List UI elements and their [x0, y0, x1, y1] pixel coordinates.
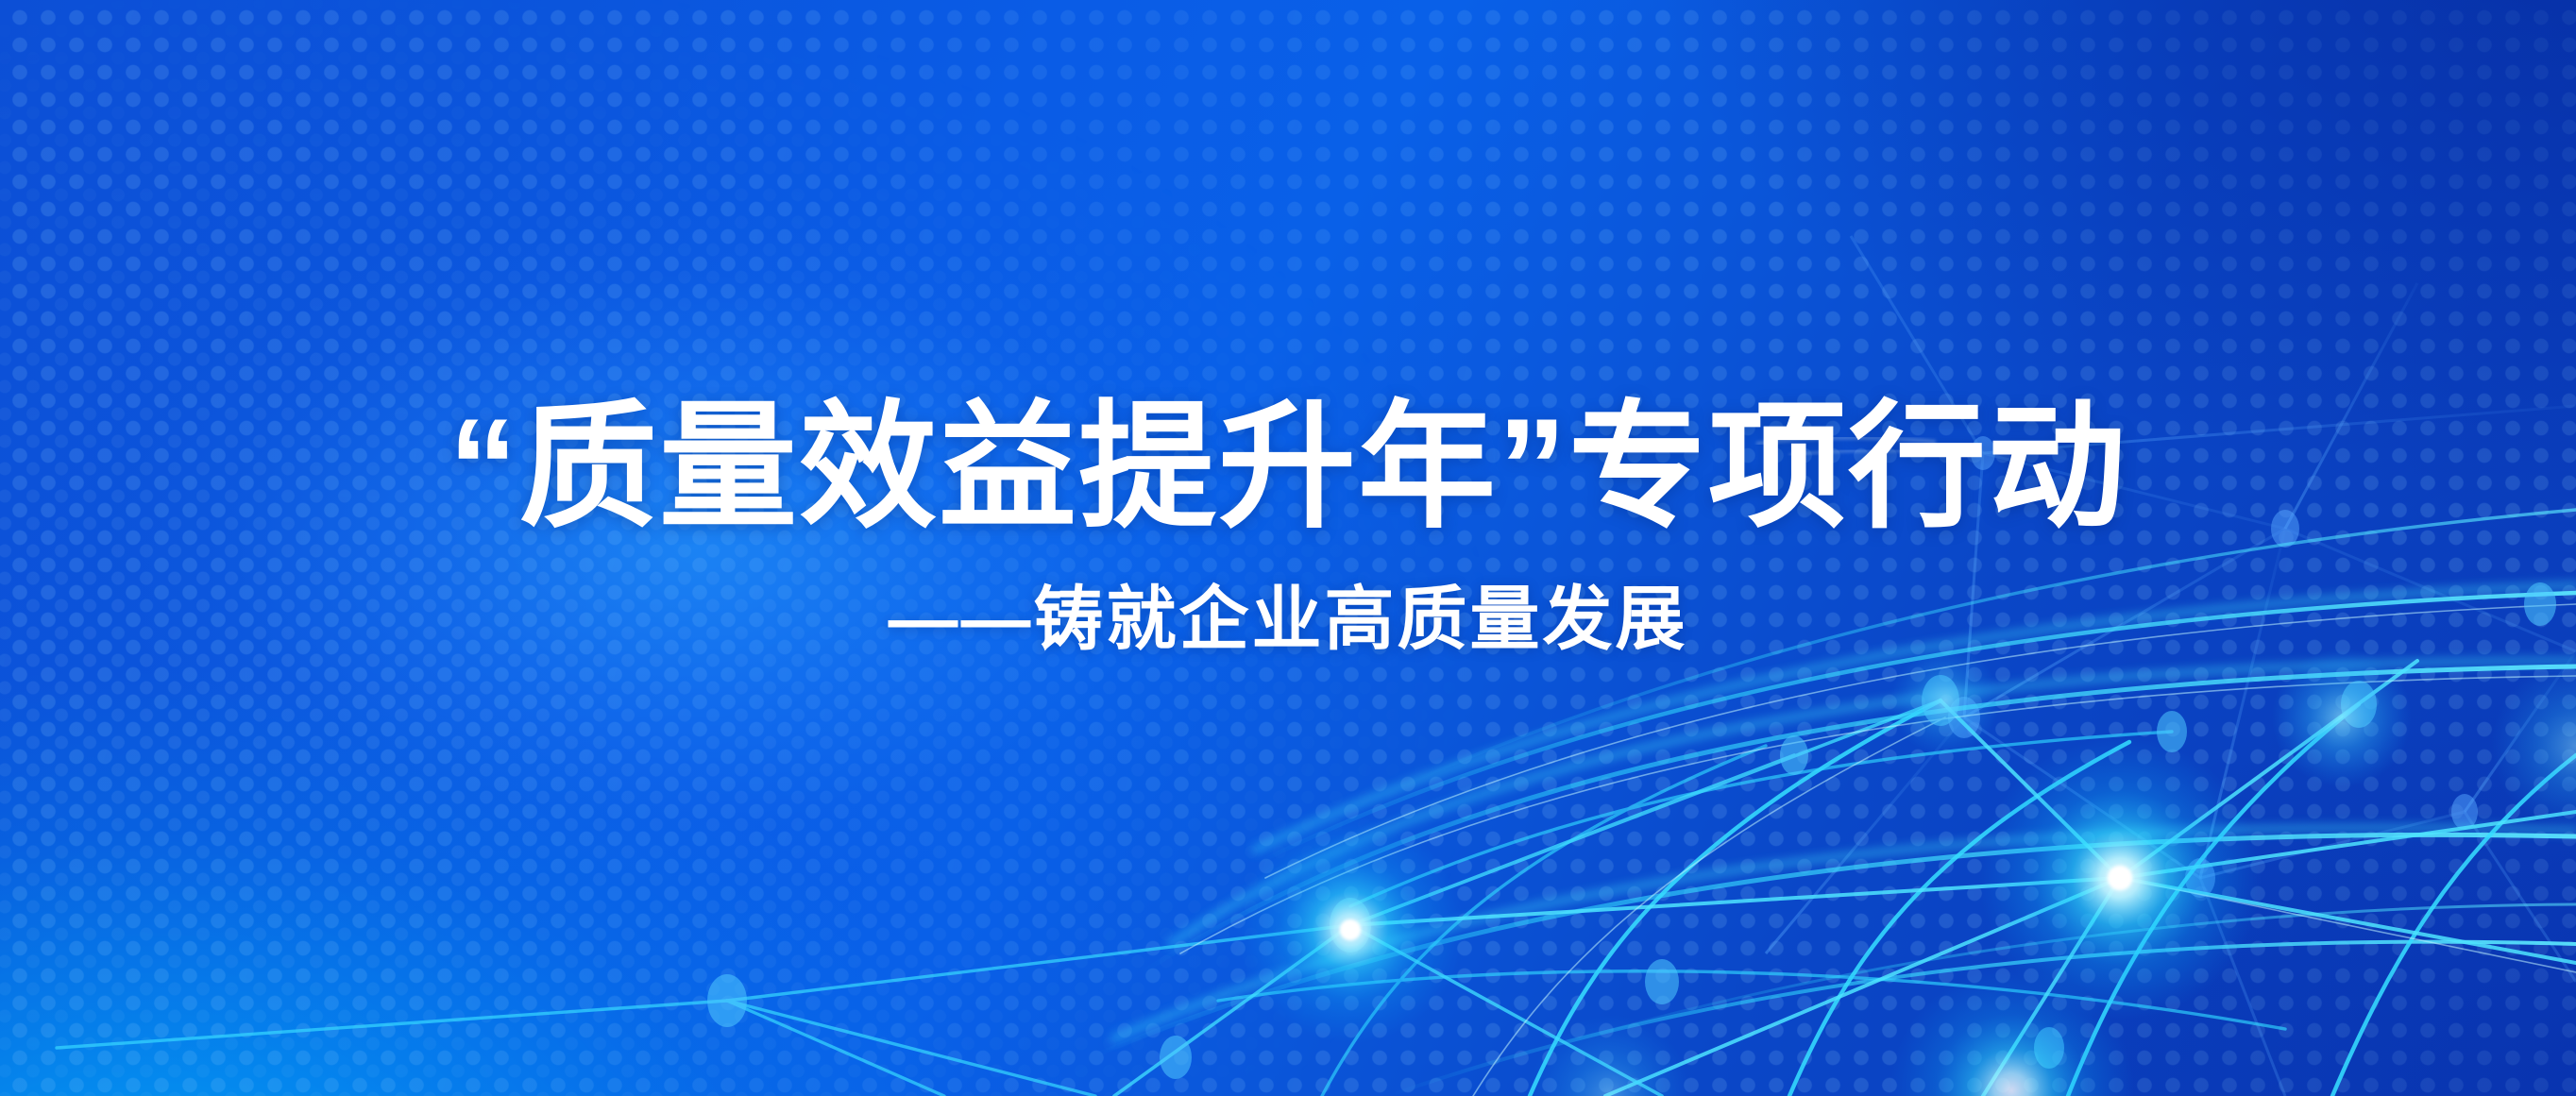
banner-subtitle: ——铸就企业高质量发展 [889, 581, 1688, 657]
banner-canvas: “质量效益提升年”专项行动 ——铸就企业高质量发展 [0, 0, 2576, 1096]
banner-title: “质量效益提升年”专项行动 [449, 396, 2127, 539]
banner-text-block: “质量效益提升年”专项行动 ——铸就企业高质量发展 [0, 0, 2576, 1096]
